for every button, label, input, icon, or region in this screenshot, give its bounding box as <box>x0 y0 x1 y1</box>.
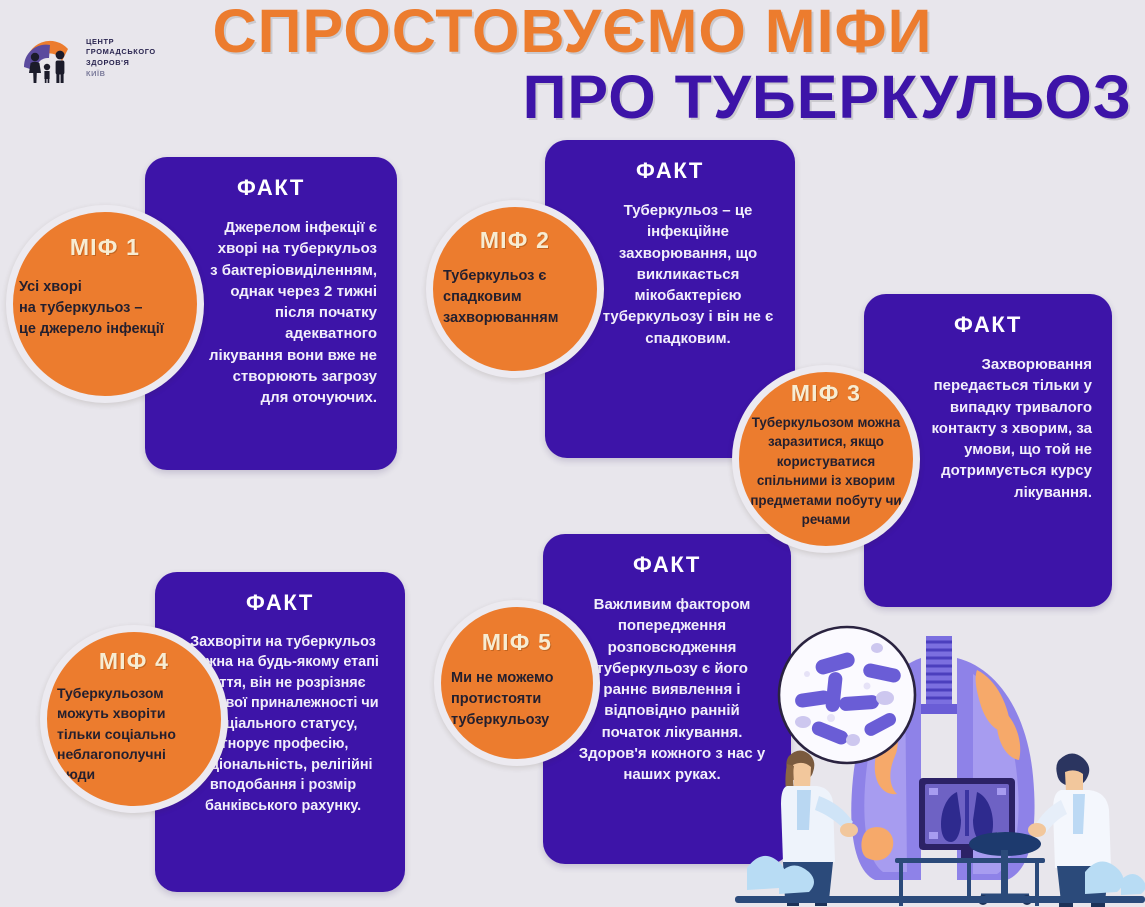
myth-circle-1-text: Усі хворі на туберкульоз – це джерело ін… <box>13 277 197 340</box>
myth-circle-2-label: МІФ 2 <box>480 227 550 254</box>
magnifier-with-bacteria-icon <box>779 627 915 763</box>
myth-circle-3-text: Туберкульозом можна заразитися, якщо кор… <box>739 413 913 530</box>
myth-circle-4-text: Туберкульозом можуть хворіти тільки соці… <box>47 683 221 784</box>
myth-circle-2-text: Туберкульоз є спадковим захворюванням <box>433 266 597 329</box>
fact-card-5-title: ФАКТ <box>563 552 771 578</box>
fact-card-1-title: ФАКТ <box>165 175 377 201</box>
myth-circle-5-text: Ми не можемо протистояти туберкульозу <box>441 668 593 731</box>
myth-circle-4: МІФ 4 Туберкульозом можуть хворіти тільк… <box>40 625 228 813</box>
myth-circle-1-label: МІФ 1 <box>70 234 140 261</box>
fact-card-4-title: ФАКТ <box>175 590 385 616</box>
myth-circle-5: МІФ 5 Ми не можемо протистояти туберкуль… <box>434 600 600 766</box>
myth-circle-3-label: МІФ 3 <box>791 380 861 407</box>
lungs-tuberculosis-doctors-illustration <box>735 600 1145 907</box>
floor-line <box>735 896 1145 903</box>
myth-circle-5-label: МІФ 5 <box>482 629 552 656</box>
myth-circle-3: МІФ 3 Туберкульозом можна заразитися, як… <box>732 365 920 553</box>
infographic-page: ЦЕНТР ГРОМАДСЬКОГО ЗДОРОВ'Я КИЇВ СПРОСТО… <box>0 0 1145 907</box>
page-title-line-2: ПРО ТУБЕРКУЛЬОЗ <box>0 62 1132 132</box>
myth-circle-4-label: МІФ 4 <box>99 648 169 675</box>
fact-card-2-title: ФАКТ <box>565 158 775 184</box>
myth-circle-2: МІФ 2 Туберкульоз є спадковим захворюван… <box>426 200 604 378</box>
page-title-line-1: СПРОСТОВУЄМО МІФИ <box>0 0 1145 66</box>
fact-card-3-title: ФАКТ <box>884 312 1092 338</box>
myth-circle-1: МІФ 1 Усі хворі на туберкульоз – це джер… <box>6 205 204 403</box>
